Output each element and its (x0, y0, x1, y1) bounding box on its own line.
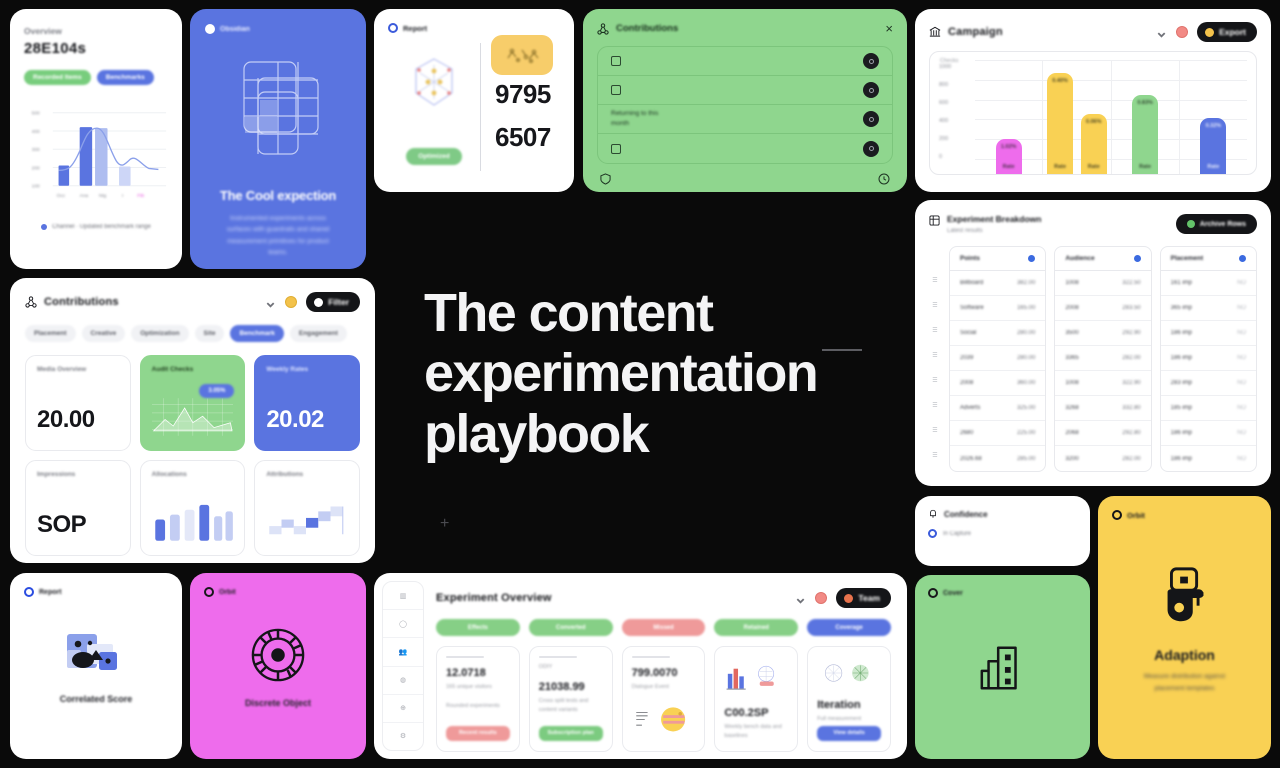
dashboard-menu-button[interactable]: Filter (306, 292, 360, 312)
cell-name: 283 imp (1171, 380, 1192, 386)
table-row: 2039280.00 (950, 346, 1045, 371)
pill-missed[interactable]: Missed (622, 619, 706, 636)
card-cta[interactable]: View details (817, 726, 881, 741)
card-body: Cross split tests and content variants (539, 697, 603, 715)
archive-rows-button[interactable]: Archive Rows (1176, 214, 1257, 234)
table-row: Software165.00 (950, 296, 1045, 321)
bottom-card-1[interactable]: 12.0718 165 unique visitors Rounded expe… (436, 646, 520, 752)
y-tick: 1000 (939, 64, 975, 70)
column-header: Placement (1171, 255, 1204, 262)
drag-handle-icon[interactable]: ☰ (929, 343, 941, 368)
lock-robot-icon (1154, 565, 1216, 627)
avatar[interactable] (285, 296, 297, 308)
bars-y-axis: 1000 800 600 400 200 0 (939, 60, 975, 174)
note-item[interactable]: In Capture (928, 529, 1077, 538)
cell-value: 292.90 (1122, 330, 1140, 336)
cell-value: NO (1237, 355, 1246, 361)
legend-dot-icon (41, 224, 47, 230)
y-tick: 600 (939, 100, 975, 106)
modal-row-list: Returning to this month (597, 46, 893, 164)
svg-text:Ana: Ana (80, 193, 89, 199)
shield-icon[interactable] (600, 173, 611, 185)
table-row: Social280.00 (950, 321, 1045, 346)
card-cta[interactable]: Recent results (446, 726, 510, 741)
modal-title: Contributions (616, 23, 678, 34)
drag-handle-icon[interactable]: ☰ (929, 268, 941, 293)
cell-value: NO (1237, 330, 1246, 336)
status-pill-row: Effects Converted Missed Retained Covera… (436, 619, 891, 636)
tile-label: Media Overview (37, 366, 119, 373)
cell-value: 280.00 (1017, 330, 1035, 336)
bottom-card-4[interactable]: C00.2SP Weekly bench data and baselines (714, 646, 798, 752)
hero-line-3: playbook (424, 404, 894, 464)
hero-line-1: The content (424, 283, 894, 343)
bars-menu-label: Export (1219, 27, 1246, 37)
table-row: 283 impNO (1161, 371, 1256, 396)
table-row: 3365282.00 (1055, 346, 1150, 371)
bar-impressions[interactable]: 0.40% Rate (1047, 73, 1073, 174)
discrete-object-card: Orbit Discrete Object (190, 573, 366, 759)
table-row: 365 impNO (1161, 296, 1256, 321)
chip-creative[interactable]: Creative (82, 325, 126, 342)
bar-traffic[interactable]: 1.02% Rate (996, 139, 1022, 174)
cell-name: Software (960, 305, 984, 311)
icon-card-brand-label: Orbit (219, 589, 236, 596)
table-icon (929, 215, 940, 226)
svg-text:400: 400 (32, 129, 40, 135)
card-sub: 165 unique visitors (446, 683, 510, 692)
cell-value: 282.00 (1122, 355, 1140, 361)
cell-name: 3365 (1065, 355, 1078, 361)
modal-row[interactable] (598, 76, 892, 105)
team-button[interactable]: Team (836, 588, 891, 608)
checkbox-icon[interactable] (611, 144, 621, 154)
brand-ring-icon (1112, 510, 1122, 520)
y-tick: 800 (939, 82, 975, 88)
bar-top-label: 0.32% (1206, 123, 1222, 129)
pill-retained[interactable]: Retained (714, 619, 798, 636)
table-column-points: Points Billboard382.00 Software165.00 So… (949, 246, 1046, 472)
cell-name: 2008 (1065, 305, 1078, 311)
svg-text:300: 300 (32, 147, 40, 153)
cell-name: 186 imp (1171, 355, 1192, 361)
cell-name: 185 imp (1171, 405, 1192, 411)
tile-value: 20.00 (37, 406, 119, 434)
card-body: Rounded experiments (446, 702, 510, 711)
bar-group: 0.40% Rate 0.06% Rate (1043, 60, 1111, 174)
avatar[interactable] (815, 592, 827, 604)
dashboard-menu-label: Filter (328, 297, 349, 307)
icon-card-brand-label: Report (39, 589, 62, 596)
table-row: 1008322.50 (1055, 271, 1150, 296)
table-row: 186 impNO (1161, 321, 1256, 346)
table-row: 2068292.80 (1055, 421, 1150, 446)
table-row: 186 impNO (1161, 446, 1256, 471)
stats-yellow-chip (491, 35, 553, 75)
svg-text:100: 100 (32, 184, 40, 190)
circle-icon[interactable]: ◯ (383, 610, 423, 638)
row-action-button[interactable] (863, 111, 879, 127)
tile-weekly-rates[interactable]: Weekly Rates 20.02 (254, 355, 360, 451)
card-sub: Full measurement (817, 715, 881, 724)
promo-card: Obsidian The Cool expection Instrumented… (190, 9, 366, 269)
card-sub: Weekly bench data and baselines (724, 723, 788, 741)
cell-name: 2026.68 (960, 456, 982, 462)
cell-value: 292.80 (1122, 430, 1140, 436)
share-nodes-icon (25, 296, 37, 308)
column-dot-icon (1239, 255, 1246, 262)
status-dot-icon (844, 594, 853, 603)
bars-menu-button[interactable]: Export (1197, 22, 1257, 42)
archive-rows-label: Archive Rows (1200, 221, 1246, 228)
stats-metric-2: 6507 (495, 122, 560, 153)
cell-value: 282.00 (1122, 456, 1140, 462)
table-row: 186 impNO (1161, 421, 1256, 446)
cell-name: Adverts (960, 405, 980, 411)
cell-value: NO (1237, 305, 1246, 311)
chevron-down-icon[interactable] (795, 593, 806, 604)
tile-label: Weekly Rates (266, 366, 348, 373)
icon-card-brand: Orbit (204, 587, 352, 597)
cell-name: 186 imp (1171, 430, 1192, 436)
promo-brand-label: Obsidian (220, 26, 250, 33)
cell-value: 165.00 (1017, 305, 1035, 311)
bar-clicks[interactable]: 0.06% Rate (1081, 114, 1107, 174)
brand-ring-icon (388, 23, 398, 33)
checkbox-icon[interactable] (611, 85, 621, 95)
tile-bar-chart (152, 499, 234, 545)
svg-text:Occ: Occ (57, 193, 66, 199)
card-value: 21038.99 (539, 681, 603, 693)
cell-name: 365 imp (1171, 305, 1192, 311)
drag-handle-icon[interactable]: ☰ (929, 393, 941, 418)
cell-value: 382.00 (1017, 280, 1035, 286)
yellow-card-heading: Adaption (1154, 647, 1215, 663)
modal-row[interactable]: Returning to this month (598, 105, 892, 134)
yellow-card-brand-label: Orbit (1127, 511, 1145, 520)
svg-text:Ftb: Ftb (137, 193, 144, 199)
contributions-dashboard-card: Contributions Filter Placement Creative … (10, 278, 375, 563)
tile-area-chart (152, 394, 234, 440)
pill-effects[interactable]: Effects (436, 619, 520, 636)
table-row: 186 impNO (1161, 346, 1256, 371)
overview-combo-chart: 500400300 200100 OccAnaNtgI Ftb (24, 103, 168, 207)
cell-name: 1008 (1065, 280, 1078, 286)
overview-value: 28E104s (24, 40, 168, 57)
cell-name: 1008 (1065, 380, 1078, 386)
poster-canvas: Overview 28E104s Recorded Items Benchmar… (0, 0, 1280, 768)
bell-icon[interactable]: ◍ (383, 667, 423, 695)
brand-ring-icon (928, 588, 938, 598)
table-row: 3268332.80 (1055, 396, 1150, 421)
tile-audit-checks[interactable]: Audit Checks 3.05% (140, 355, 246, 451)
users-icon[interactable]: 👥 (383, 638, 423, 666)
tile-label: Audit Checks (152, 366, 234, 373)
tile-value: 20.02 (266, 406, 348, 434)
coin-illustration-icon (632, 698, 696, 738)
bar-bottom-label: Rate (1054, 164, 1066, 170)
cell-name: 186 imp (1171, 456, 1192, 462)
tile-value: SOP (37, 511, 119, 539)
bars-card-title: Campaign (948, 26, 1003, 38)
cell-value: 322.90 (1122, 380, 1140, 386)
icon-card-caption: Correlated Score (60, 694, 133, 704)
tile-step-chart (266, 499, 348, 545)
table-row: 3500292.90 (1055, 321, 1150, 346)
cell-value: 280.00 (1017, 355, 1035, 361)
tile-label: Allocations (152, 471, 234, 478)
team-button-label: Team (858, 593, 880, 603)
drag-handle-icon[interactable]: ☰ (929, 443, 941, 468)
modal-row[interactable] (598, 47, 892, 76)
hero-line-2: experimentation (424, 343, 894, 403)
promo-brand: Obsidian (205, 24, 351, 34)
overview-legend: Channel · Updated benchmark range (24, 224, 168, 230)
stats-badge: Optimized (406, 148, 461, 165)
card-sub: Dialogue Event (632, 683, 696, 692)
chip-benchmark[interactable]: Benchmark (230, 325, 283, 342)
stats-metric-1: 9795 (495, 79, 560, 110)
bars-plot-caption: Checks (940, 58, 958, 64)
cell-value: NO (1237, 430, 1246, 436)
yellow-card-brand: Orbit (1112, 510, 1257, 520)
placeholder-line (446, 656, 484, 658)
note-title: Confidence (944, 510, 988, 519)
cell-name: 3268 (1065, 405, 1078, 411)
table-title: Experiment Breakdown (947, 214, 1041, 224)
card-value: 12.0718 (446, 667, 510, 679)
promo-heading: The Cool expection (205, 188, 351, 203)
bell-icon (928, 509, 938, 519)
table-row-handles: ☰☰ ☰☰ ☰☰ ☰☰ (929, 246, 941, 472)
stats-card: Report Optimized (374, 9, 574, 192)
promo-illustration (205, 58, 351, 166)
cell-value: 225.00 (1017, 430, 1035, 436)
bar-revenue[interactable]: 0.32% Rate (1200, 118, 1226, 174)
cell-name: 3500 (1065, 330, 1078, 336)
dashboard-chip-row: Placement Creative Optimization Site Ben… (25, 325, 360, 342)
drag-handle-icon[interactable]: ☰ (929, 368, 941, 393)
chip-placement[interactable]: Placement (25, 325, 76, 342)
avatar[interactable] (1176, 26, 1188, 38)
chart-cluster-icon (724, 656, 788, 698)
svg-text:500: 500 (32, 111, 40, 117)
table-column-placement: Placement 161 impNO 365 impNO 186 impNO … (1160, 246, 1257, 472)
table-row: 2680225.00 (950, 421, 1045, 446)
row-action-button[interactable] (863, 53, 879, 69)
chip-site[interactable]: Site (195, 325, 225, 342)
card-cta[interactable]: Subscription plan (539, 726, 603, 741)
yellow-card-paragraph: Measure distribution against placement t… (1112, 671, 1257, 694)
table-column-audience: Audience 1008322.50 2008283.50 3500292.9… (1054, 246, 1151, 472)
table-row: 2026.68285.00 (950, 446, 1045, 471)
icon-card-brand: Report (24, 587, 168, 597)
table-row: 1008322.90 (1055, 371, 1150, 396)
cell-value: 285.00 (1017, 456, 1035, 462)
svg-text:200: 200 (32, 165, 40, 171)
cell-value: NO (1237, 380, 1246, 386)
note-item-label: In Capture (943, 531, 971, 537)
cell-value: NO (1237, 405, 1246, 411)
brand-ring-icon (24, 587, 34, 597)
bar-bottom-label: Rate (1003, 164, 1015, 170)
cell-value: NO (1237, 280, 1246, 286)
settings-icon[interactable]: ⚙ (383, 723, 423, 750)
cell-name: 2039 (960, 355, 973, 361)
bars-plot-panel: 1000 800 600 400 200 0 1.02% Rate 0.40% (929, 51, 1257, 175)
tile-impressions[interactable]: Impressions SOP (25, 460, 131, 556)
tile-allocations[interactable]: Allocations (140, 460, 246, 556)
green-card-brand: Cover (928, 588, 1077, 598)
hero-divider (822, 349, 862, 351)
cell-value: 332.80 (1122, 405, 1140, 411)
cell-name: 2680 (960, 430, 973, 436)
cell-value: 360.00 (1017, 380, 1035, 386)
close-icon[interactable]: × (885, 22, 893, 35)
green-card-brand-label: Cover (943, 590, 963, 597)
dashboard-title: Contributions (44, 296, 119, 308)
pill-coverage[interactable]: Coverage (807, 619, 891, 636)
tile-badge: 3.05% (199, 384, 234, 398)
placeholder-line (539, 656, 577, 658)
column-dot-icon (1134, 255, 1141, 262)
svg-text:Ntg: Ntg (99, 193, 107, 199)
experiment-table-card: Experiment Breakdown Latest results Arch… (915, 200, 1271, 486)
cell-name: 3200 (1065, 456, 1078, 462)
hero-headline: The content experimentation playbook (424, 283, 894, 464)
bar-signups[interactable]: 0.83% Rate (1132, 95, 1158, 174)
building-icon (977, 642, 1029, 694)
card-value: C00.2SP (724, 707, 788, 719)
experiment-overview-card: ▥ ◯ 👥 ◍ ⊕ ⚙ Experiment Overview Team (374, 573, 907, 759)
grid-icon[interactable]: ▥ (383, 582, 423, 610)
bottom-card-5[interactable]: Iteration Full measurement View details (807, 646, 891, 752)
promo-paragraph: Instrumented experiments across surfaces… (205, 213, 351, 259)
table-row: 2008360.00 (950, 371, 1045, 396)
column-header: Points (960, 255, 980, 262)
y-tick: 0 (939, 154, 975, 160)
row-action-button[interactable] (863, 141, 879, 157)
modal-row[interactable] (598, 134, 892, 163)
campaign-bars-card: Campaign Export 1000 800 600 400 200 0 (915, 9, 1271, 192)
cell-name: 2008 (960, 380, 973, 386)
bar-bottom-label: Rate (1207, 164, 1219, 170)
hero-plus-glyph: + (440, 515, 449, 533)
brand-ring-icon (204, 587, 214, 597)
cell-name: Billboard (960, 280, 983, 286)
chip-engagement[interactable]: Engagement (290, 325, 347, 342)
card-value: Iteration (817, 699, 881, 711)
tile-label: Attributions (266, 471, 348, 478)
overview-card: Overview 28E104s Recorded Items Benchmar… (10, 9, 182, 269)
bar-group: 0.32% Rate (1180, 60, 1247, 174)
cell-value: 283.50 (1122, 305, 1140, 311)
network-diagram-icon (406, 55, 462, 109)
confidence-note-card: Confidence In Capture (915, 496, 1090, 566)
chevron-down-icon[interactable] (265, 297, 276, 308)
clock-icon[interactable] (878, 173, 890, 185)
placeholder-line (632, 656, 670, 658)
bar-top-label: 0.06% (1086, 119, 1102, 125)
drag-handle-icon[interactable]: ☰ (929, 293, 941, 318)
bank-icon (929, 26, 941, 38)
dashboard-tile-grid: Media Overview 20.00 Audit Checks 3.05% (25, 355, 360, 556)
table-row: Billboard382.00 (950, 271, 1045, 296)
chevron-down-icon[interactable] (1156, 27, 1167, 38)
y-tick: 400 (939, 118, 975, 124)
bar-group: 0.83% Rate (1112, 60, 1180, 174)
contributions-modal-card: Contributions × Returning to this month (583, 9, 907, 192)
y-tick: 200 (939, 136, 975, 142)
checkbox-icon[interactable] (611, 56, 621, 66)
bottom-card-3[interactable]: 799.0070 Dialogue Event (622, 646, 706, 752)
tile-attributions[interactable]: Attributions (254, 460, 360, 556)
brand-ring-icon (928, 529, 937, 538)
globe-icon[interactable]: ⊕ (383, 695, 423, 723)
cover-green-card: Cover (915, 575, 1090, 759)
bar-top-label: 0.83% (1137, 100, 1153, 106)
modal-row-label: Returning to this month (611, 109, 658, 129)
tile-label: Impressions (37, 471, 119, 478)
card-kicker: ODIY (539, 663, 603, 672)
bottom-card-2[interactable]: ODIY 21038.99 Cross split tests and cont… (529, 646, 613, 752)
bar-group: 1.02% Rate (975, 60, 1043, 174)
chip-recorded-items[interactable]: Recorded Items (24, 70, 91, 85)
bar-top-label: 1.02% (1001, 144, 1017, 150)
svg-text:I: I (122, 193, 123, 199)
status-dot-icon (1187, 220, 1195, 228)
stats-left: Optimized (388, 43, 480, 171)
adaption-yellow-card: Orbit Adaption Measure distribution agai… (1098, 496, 1271, 759)
sidebar-rail: ▥ ◯ 👥 ◍ ⊕ ⚙ (382, 581, 424, 751)
cell-name: 186 imp (1171, 330, 1192, 336)
card-value: 799.0070 (632, 667, 696, 679)
orbit-pair-icon (817, 656, 881, 690)
bar-top-label: 0.40% (1052, 78, 1068, 84)
drag-handle-icon[interactable]: ☰ (929, 418, 941, 443)
cell-value: 325.00 (1017, 405, 1035, 411)
column-header: Audience (1065, 255, 1094, 262)
correlated-score-card: Report Correlated Score (10, 573, 182, 759)
cell-name: 161 imp (1171, 280, 1192, 286)
icon-card-caption: Discrete Object (245, 698, 311, 708)
overview-label: Overview (24, 26, 168, 36)
bar-bottom-label: Rate (1139, 164, 1151, 170)
chip-benchmarks[interactable]: Benchmarks (97, 70, 154, 85)
stats-brand: Report (388, 23, 560, 33)
chip-optimization[interactable]: Optimization (131, 325, 188, 342)
table-row: 185 impNO (1161, 396, 1256, 421)
gallery-photo-icon (65, 630, 127, 680)
tile-media-overview[interactable]: Media Overview 20.00 (25, 355, 131, 451)
cell-name: 2068 (1065, 430, 1078, 436)
bar-bottom-label: Rate (1088, 164, 1100, 170)
table-row: 3200282.00 (1055, 446, 1150, 471)
pill-converted[interactable]: Converted (529, 619, 613, 636)
cell-value: 322.50 (1122, 280, 1140, 286)
status-dot-icon (314, 298, 323, 307)
table-row: Adverts325.00 (950, 396, 1045, 421)
stats-brand-label: Report (403, 24, 427, 33)
row-action-button[interactable] (863, 82, 879, 98)
bottom-card-row: 12.0718 165 unique visitors Rounded expe… (436, 646, 891, 752)
overview-legend-label: Channel · Updated benchmark range (52, 224, 151, 230)
bottom-dashboard-title: Experiment Overview (436, 592, 552, 604)
overview-chip-row: Recorded Items Benchmarks (24, 70, 168, 85)
table-row: 2008283.50 (1055, 296, 1150, 321)
aperture-icon (249, 626, 307, 684)
drag-handle-icon[interactable]: ☰ (929, 318, 941, 343)
